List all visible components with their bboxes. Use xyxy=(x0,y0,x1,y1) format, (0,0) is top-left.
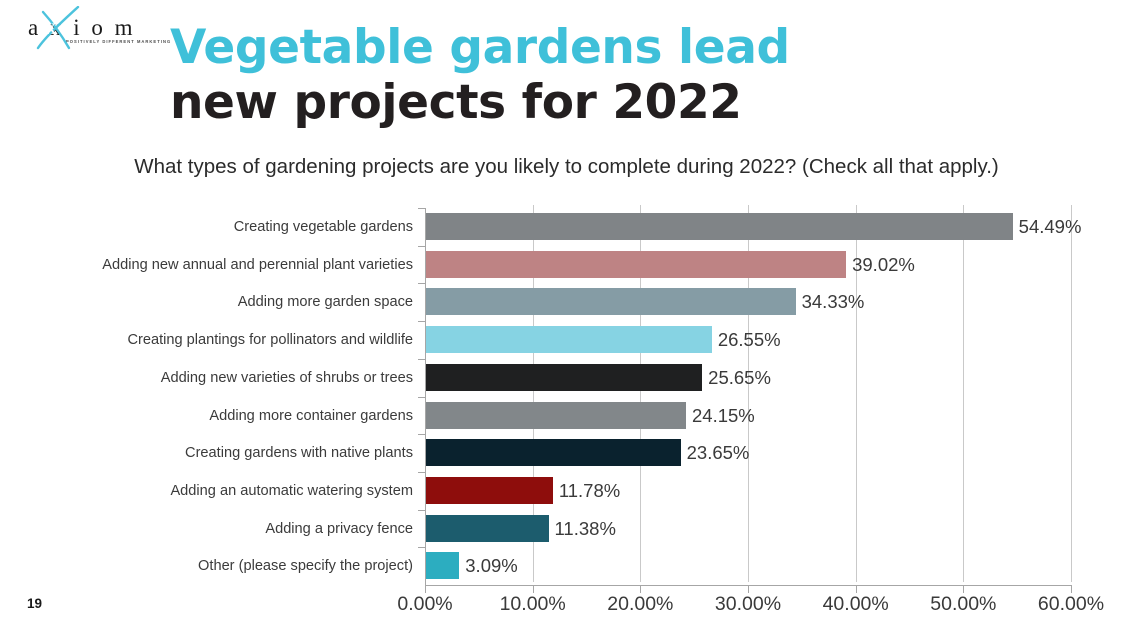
bar xyxy=(426,251,846,278)
bar xyxy=(426,364,702,391)
bar-value-label: 23.65% xyxy=(681,434,750,472)
bar xyxy=(426,515,549,542)
logo-x-letter: x xyxy=(45,14,57,40)
bar xyxy=(426,288,796,315)
bar-value-label: 3.09% xyxy=(459,547,517,585)
x-axis-tick-labels: 0.00%10.00%20.00%30.00%40.00%50.00%60.00… xyxy=(0,593,1133,623)
chart-question-subtitle: What types of gardening projects are you… xyxy=(0,155,1133,179)
y-axis-tick xyxy=(418,246,425,247)
chart-bar-row: Adding more garden space34.33% xyxy=(0,283,1133,321)
chart-bar-row: Adding a privacy fence11.38% xyxy=(0,510,1133,548)
y-axis-tick xyxy=(418,208,425,209)
y-axis-tick xyxy=(418,359,425,360)
bar xyxy=(426,477,553,504)
bar-category-label: Creating gardens with native plants xyxy=(0,434,413,472)
x-axis-tick-label: 10.00% xyxy=(500,593,566,616)
bar xyxy=(426,326,712,353)
chart-bar-row: Adding new annual and perennial plant va… xyxy=(0,246,1133,284)
bar xyxy=(426,402,686,429)
title-line-2: new projects for 2022 xyxy=(170,75,1030,130)
bar-value-label: 26.55% xyxy=(712,321,781,359)
y-axis-tick xyxy=(418,283,425,284)
bar-value-label: 24.15% xyxy=(686,397,755,435)
x-axis-tick-label: 20.00% xyxy=(607,593,673,616)
bar xyxy=(426,439,681,466)
y-axis-tick xyxy=(418,472,425,473)
chart-bar-row: Other (please specify the project)3.09% xyxy=(0,547,1133,585)
x-axis-tick-label: 60.00% xyxy=(1038,593,1104,616)
x-axis-tick xyxy=(1071,586,1072,593)
bar-value-label: 39.02% xyxy=(846,246,915,284)
x-axis-tick xyxy=(748,586,749,593)
axiom-logo: a x i o m x POSITIVELY DIFFERENT MARKETI… xyxy=(22,6,142,50)
bar-category-label: Adding new varieties of shrubs or trees xyxy=(0,359,413,397)
bar-value-label: 54.49% xyxy=(1013,208,1082,246)
bar xyxy=(426,552,459,579)
bar xyxy=(426,213,1013,240)
y-axis-tick xyxy=(418,434,425,435)
x-axis-tick-label: 30.00% xyxy=(715,593,781,616)
bar-value-label: 25.65% xyxy=(702,359,771,397)
title-line-1: Vegetable gardens lead xyxy=(170,20,1030,75)
chart-bar-row: Adding more container gardens24.15% xyxy=(0,397,1133,435)
bar-category-label: Adding more garden space xyxy=(0,283,413,321)
bar-value-label: 11.78% xyxy=(553,472,620,510)
x-axis-tick-label: 40.00% xyxy=(823,593,889,616)
x-axis-tick xyxy=(963,586,964,593)
chart-bar-row: Creating vegetable gardens54.49% xyxy=(0,208,1133,246)
chart-bar-row: Creating gardens with native plants23.65… xyxy=(0,434,1133,472)
x-axis-tick xyxy=(640,586,641,593)
y-axis-tick xyxy=(418,397,425,398)
bar-category-label: Creating vegetable gardens xyxy=(0,208,413,246)
y-axis-tick xyxy=(418,321,425,322)
x-axis-tick-label: 0.00% xyxy=(397,593,452,616)
bar-category-label: Adding new annual and perennial plant va… xyxy=(0,246,413,284)
logo-swoosh-icon xyxy=(36,6,82,50)
bar-category-label: Creating plantings for pollinators and w… xyxy=(0,321,413,359)
bar-category-label: Adding more container gardens xyxy=(0,397,413,435)
chart-bar-row: Adding new varieties of shrubs or trees2… xyxy=(0,359,1133,397)
chart-bar-row: Adding an automatic watering system11.78… xyxy=(0,472,1133,510)
bar-value-label: 11.38% xyxy=(549,510,616,548)
x-axis-tick xyxy=(425,586,426,593)
bar-value-label: 34.33% xyxy=(796,283,865,321)
bar-category-label: Other (please specify the project) xyxy=(0,547,413,585)
x-axis-tick-label: 50.00% xyxy=(930,593,996,616)
bar-category-label: Adding an automatic watering system xyxy=(0,472,413,510)
x-axis-tick xyxy=(533,586,534,593)
y-axis-tick xyxy=(418,510,425,511)
y-axis-tick xyxy=(418,547,425,548)
x-axis-tick xyxy=(856,586,857,593)
page-title: Vegetable gardens lead new projects for … xyxy=(170,20,1030,130)
bar-category-label: Adding a privacy fence xyxy=(0,510,413,548)
horizontal-bar-chart: Creating vegetable gardens54.49%Adding n… xyxy=(0,205,1133,629)
chart-bar-row: Creating plantings for pollinators and w… xyxy=(0,321,1133,359)
